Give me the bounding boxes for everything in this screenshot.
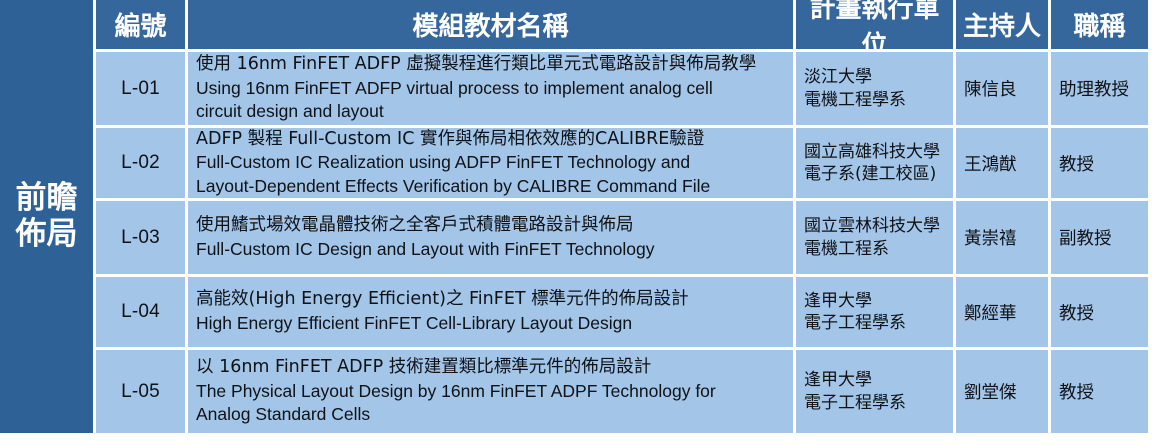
column-header-unit: 計畫執行單位 [796,0,956,52]
cell-unit: 淡江大學 電機工程學系 [796,52,956,128]
column-header-rank: 職稱 [1051,0,1148,52]
title-en-line-1: Using 16nm FinFET ADFP virtual process t… [196,77,785,101]
table-header-row: 編號 模組教材名稱 計畫執行單位 主持人 職稱 [96,0,1148,52]
cell-pi: 鄭經華 [956,277,1051,350]
pi-name: 鄭經華 [964,300,1040,325]
table-row: L-02 ADFP 製程 Full-Custom IC 實作與佈局相依效應的CA… [96,128,1148,201]
unit-line-2: 電機工程系 [804,238,945,260]
cell-unit: 國立雲林科技大學 電機工程系 [796,201,956,277]
row-id-text: L-04 [121,301,160,323]
title-zh: 高能效(High Energy Efficient)之 FinFET 標準元件的… [196,288,785,312]
title-en-line-2: Analog Standard Cells [196,403,785,427]
cell-rank: 教授 [1051,277,1148,350]
table-row: L-04 高能效(High Energy Efficient)之 FinFET … [96,277,1148,350]
unit-line-2: 電子工程學系 [804,392,945,414]
slide-canvas: 前瞻 佈局 編號 模組教材名稱 計畫執行單位 主持人 職稱 L-01 使用 16… [0,0,1157,445]
unit-line-2: 電機工程學系 [804,89,945,111]
cell-rank: 教授 [1051,350,1148,433]
cell-id: L-02 [96,128,188,201]
row-id-text: L-01 [121,78,160,100]
cell-unit: 逢甲大學 電子工程學系 [796,350,956,433]
unit-line-1: 淡江大學 [804,66,945,88]
cell-rank: 副教授 [1051,201,1148,277]
unit-line-1: 國立高雄科技大學 [804,141,945,163]
rank-text: 副教授 [1059,225,1140,250]
curriculum-table: 前瞻 佈局 編號 模組教材名稱 計畫執行單位 主持人 職稱 L-01 使用 16… [0,0,1148,433]
title-en-line-2: circuit design and layout [196,100,785,124]
cell-title: 高能效(High Energy Efficient)之 FinFET 標準元件的… [188,277,796,350]
cell-pi: 劉堂傑 [956,350,1051,433]
pi-name: 劉堂傑 [964,379,1040,404]
table-grid: 編號 模組教材名稱 計畫執行單位 主持人 職稱 L-01 使用 16nm Fin… [96,0,1148,433]
title-en-line-2: Layout-Dependent Effects Verification by… [196,175,785,199]
cell-title: 以 16nm FinFET ADFP 技術建置類比標準元件的佈局設計 The P… [188,350,796,433]
row-id-text: L-03 [121,227,160,249]
pi-name: 王鴻猷 [964,151,1040,176]
cell-id: L-04 [96,277,188,350]
table-row: L-05 以 16nm FinFET ADFP 技術建置類比標準元件的佈局設計 … [96,350,1148,433]
row-id-text: L-02 [121,152,160,174]
pi-name: 陳信良 [964,76,1040,101]
cell-id: L-03 [96,201,188,277]
unit-line-1: 逢甲大學 [804,290,945,312]
cell-rank: 教授 [1051,128,1148,201]
cell-unit: 逢甲大學 電子工程學系 [796,277,956,350]
category-band: 前瞻 佈局 [0,0,96,433]
unit-line-2: 電子系(建工校區) [804,163,945,185]
cell-pi: 王鴻猷 [956,128,1051,201]
cell-title: ADFP 製程 Full-Custom IC 實作與佈局相依效應的CALIBRE… [188,128,796,201]
rank-text: 助理教授 [1059,76,1140,101]
title-zh: 使用鰭式場效電晶體技術之全客戶式積體電路設計與佈局 [196,214,785,238]
cell-unit: 國立高雄科技大學 電子系(建工校區) [796,128,956,201]
rank-text: 教授 [1059,151,1140,176]
cell-id: L-01 [96,52,188,128]
cell-pi: 陳信良 [956,52,1051,128]
unit-line-2: 電子工程學系 [804,312,945,334]
column-header-title: 模組教材名稱 [188,0,796,52]
title-en-line-1: Full-Custom IC Design and Layout with Fi… [196,238,785,262]
title-en-line-1: High Energy Efficient FinFET Cell-Librar… [196,312,785,336]
cell-title: 使用鰭式場效電晶體技術之全客戶式積體電路設計與佈局 Full-Custom IC… [188,201,796,277]
title-zh: 以 16nm FinFET ADFP 技術建置類比標準元件的佈局設計 [196,356,785,380]
pi-name: 黃崇禧 [964,225,1040,250]
title-zh: 使用 16nm FinFET ADFP 虛擬製程進行類比單元式電路設計與佈局教學 [196,53,785,77]
cell-title: 使用 16nm FinFET ADFP 虛擬製程進行類比單元式電路設計與佈局教學… [188,52,796,128]
table-row: L-01 使用 16nm FinFET ADFP 虛擬製程進行類比單元式電路設計… [96,52,1148,128]
cell-id: L-05 [96,350,188,433]
column-header-pi: 主持人 [956,0,1051,52]
cell-rank: 助理教授 [1051,52,1148,128]
title-en-line-1: Full-Custom IC Realization using ADFP Fi… [196,151,785,175]
cell-pi: 黃崇禧 [956,201,1051,277]
rank-text: 教授 [1059,379,1140,404]
title-zh: ADFP 製程 Full-Custom IC 實作與佈局相依效應的CALIBRE… [196,128,785,151]
row-id-text: L-05 [121,381,160,403]
table-row: L-03 使用鰭式場效電晶體技術之全客戶式積體電路設計與佈局 Full-Cust… [96,201,1148,277]
unit-line-1: 國立雲林科技大學 [804,215,945,237]
title-en-line-1: The Physical Layout Design by 16nm FinFE… [196,380,785,404]
category-band-label: 前瞻 佈局 [16,181,78,253]
rank-text: 教授 [1059,300,1140,325]
column-header-id: 編號 [96,0,188,52]
unit-line-1: 逢甲大學 [804,369,945,391]
